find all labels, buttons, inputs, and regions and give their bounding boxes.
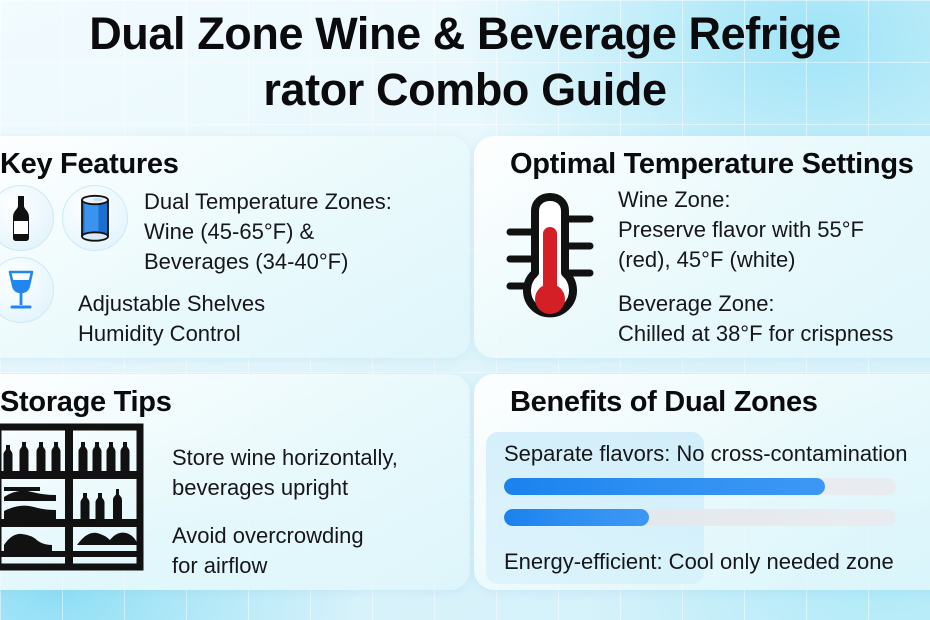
temperature-item-1-line-1: Wine Zone: bbox=[618, 185, 893, 215]
benefit-item-2-progress-fill bbox=[504, 509, 649, 526]
temperature-item-1-line-2: Preserve flavor with 55°F bbox=[618, 215, 893, 245]
temperature-item-2-line-1: Beverage Zone: bbox=[618, 289, 893, 319]
key-features-item-1: Dual Temperature Zones: Wine (45-65°F) &… bbox=[144, 187, 392, 277]
storage-tips-text-block: Store wine horizontally, beverages uprig… bbox=[172, 441, 398, 581]
key-features-item-1-line-2: Wine (45-65°F) & bbox=[144, 217, 392, 247]
wine-glass-icon-bubble bbox=[0, 257, 54, 323]
storage-tips-item-2-line-2: for airflow bbox=[172, 551, 398, 581]
panel-key-features-body: Dual Temperature Zones: Wine (45-65°F) &… bbox=[0, 185, 470, 349]
thermometer-icon bbox=[502, 187, 598, 337]
soda-can-icon-bubble bbox=[62, 185, 128, 251]
storage-tips-item-1-line-1: Store wine horizontally, bbox=[172, 443, 398, 473]
benefit-item-1-progress-track bbox=[504, 478, 896, 495]
panel-storage-tips: Storage Tips bbox=[0, 374, 470, 590]
temperature-item-1-line-3: (red), 45°F (white) bbox=[618, 245, 893, 275]
storage-tips-item-2-line-1: Avoid overcrowding bbox=[172, 521, 398, 551]
key-features-item-1-line-1: Dual Temperature Zones: bbox=[144, 187, 392, 217]
wine-bottle-icon bbox=[4, 194, 38, 242]
panel-storage-tips-body: Store wine horizontally, beverages uprig… bbox=[0, 421, 470, 581]
key-features-item-1-line-3: Beverages (34-40°F) bbox=[144, 247, 392, 277]
panel-key-features: Key Features bbox=[0, 136, 470, 358]
panel-temperature-heading: Optimal Temperature Settings bbox=[474, 136, 930, 181]
wine-shelf-icon bbox=[0, 423, 144, 571]
benefit-item-2-progress-track bbox=[504, 509, 896, 526]
panel-temperature-settings: Optimal Temperature Settings bbox=[474, 136, 930, 358]
temperature-item-2-line-2: Chilled at 38°F for crispness bbox=[618, 319, 893, 349]
storage-tips-item-1: Store wine horizontally, beverages uprig… bbox=[172, 443, 398, 503]
soda-can-icon bbox=[76, 194, 114, 242]
panel-storage-tips-heading: Storage Tips bbox=[0, 374, 470, 419]
page-title: Dual Zone Wine & Beverage Refrige rator … bbox=[0, 6, 930, 118]
benefit-item-1-progress-fill bbox=[504, 478, 825, 495]
storage-tips-item-1-line-2: beverages upright bbox=[172, 473, 398, 503]
panel-benefits: Benefits of Dual Zones Separate flavors:… bbox=[474, 374, 930, 590]
key-features-icon-row-top bbox=[0, 185, 128, 251]
panel-benefits-heading: Benefits of Dual Zones bbox=[474, 374, 930, 419]
temperature-item-1: Wine Zone: Preserve flavor with 55°F (re… bbox=[618, 185, 893, 275]
key-features-item-2-line-2: Humidity Control bbox=[78, 319, 392, 349]
page-title-line-1: Dual Zone Wine & Beverage Refrige bbox=[89, 8, 841, 59]
wine-glass-icon bbox=[4, 268, 38, 312]
temperature-text-block: Wine Zone: Preserve flavor with 55°F (re… bbox=[618, 183, 893, 349]
infographic-canvas: Dual Zone Wine & Beverage Refrige rator … bbox=[0, 0, 930, 620]
benefits-content: Separate flavors: No cross-contamination… bbox=[504, 440, 930, 576]
page-title-line-2: rator Combo Guide bbox=[0, 62, 930, 118]
key-features-item-2-line-1: Adjustable Shelves bbox=[78, 289, 392, 319]
benefit-item-2-label: Energy-efficient: Cool only needed zone bbox=[504, 548, 930, 576]
panel-key-features-heading: Key Features bbox=[0, 136, 470, 181]
key-features-item-2: Adjustable Shelves Humidity Control bbox=[78, 289, 392, 349]
storage-tips-item-2: Avoid overcrowding for airflow bbox=[172, 521, 398, 581]
temperature-item-2: Beverage Zone: Chilled at 38°F for crisp… bbox=[618, 289, 893, 349]
key-features-text-block: Dual Temperature Zones: Wine (45-65°F) &… bbox=[142, 185, 392, 349]
panel-temperature-body: Wine Zone: Preserve flavor with 55°F (re… bbox=[474, 183, 930, 349]
benefit-item-1-label: Separate flavors: No cross-contamination bbox=[504, 440, 930, 468]
wine-bottle-icon-bubble bbox=[0, 185, 54, 251]
